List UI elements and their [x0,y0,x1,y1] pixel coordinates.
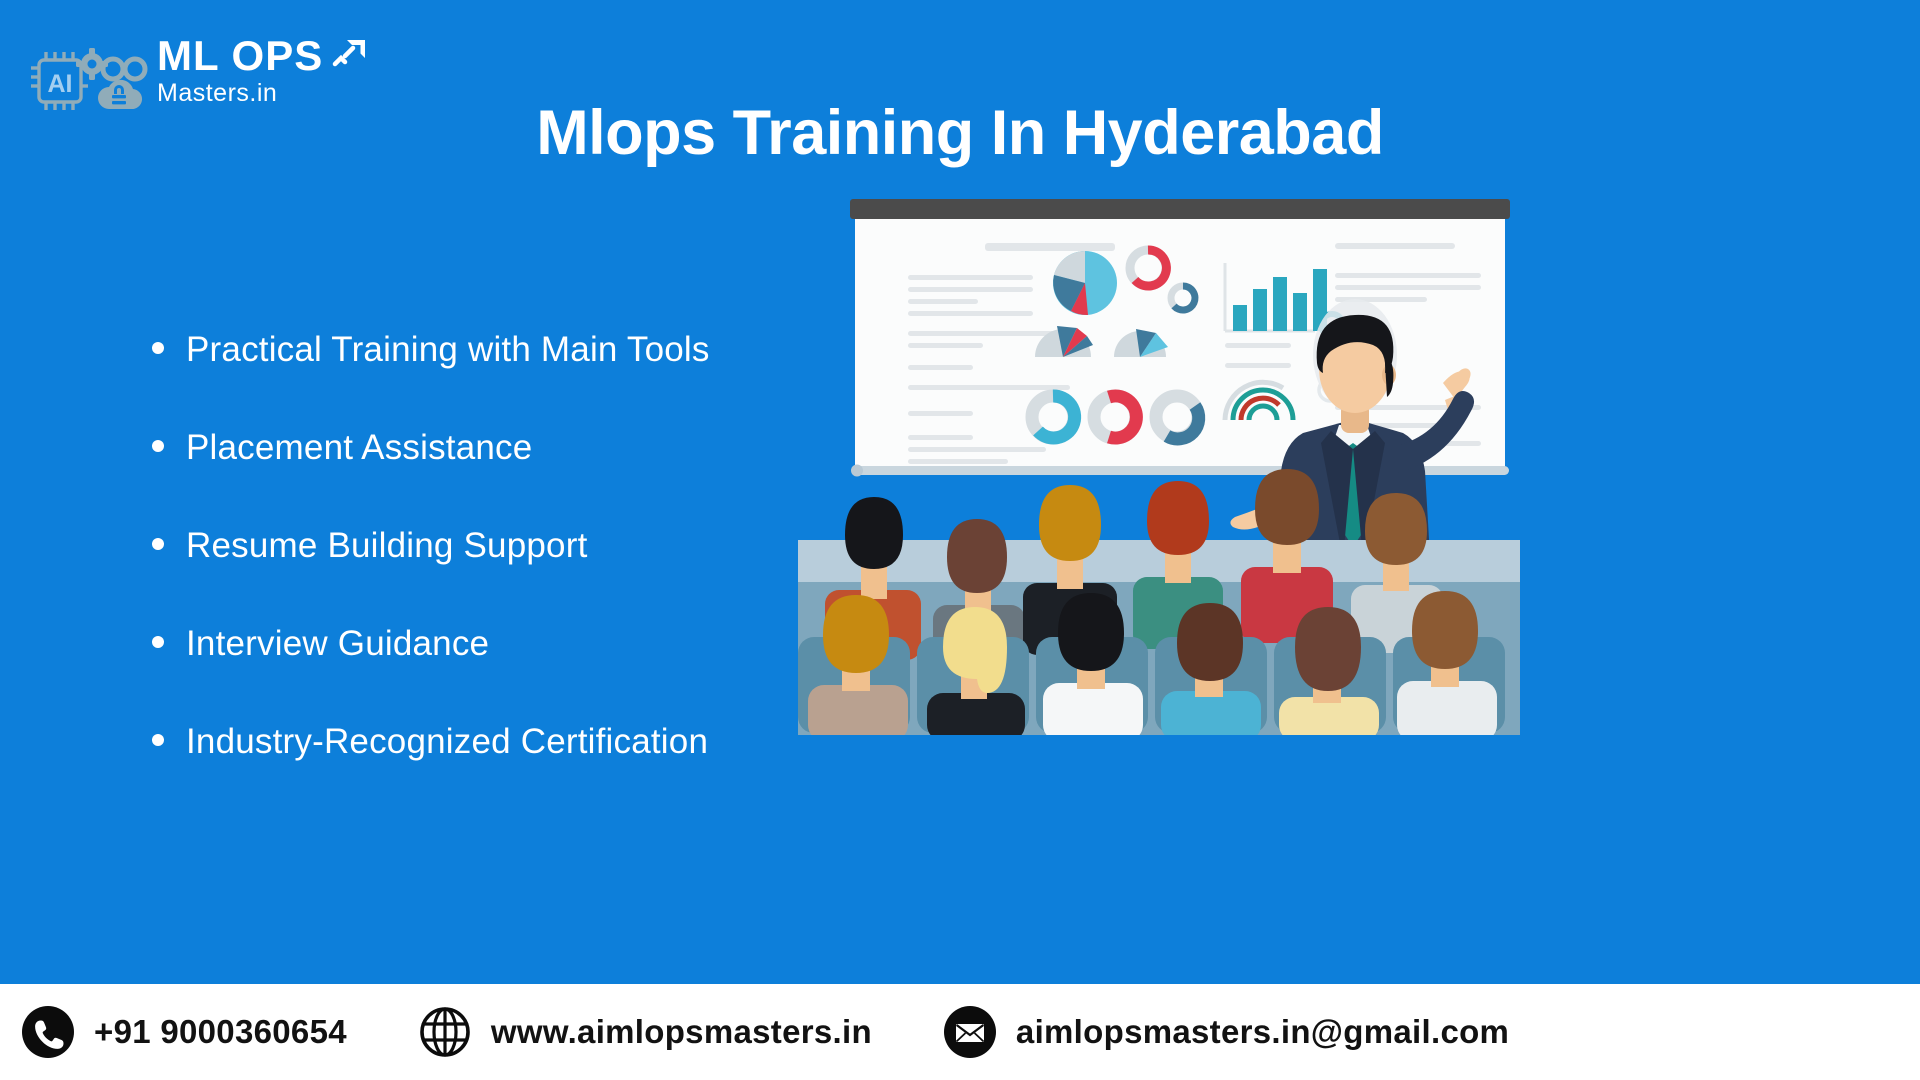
training-illustration-svg [795,185,1520,735]
list-item-label: Resume Building Support [186,526,588,566]
brand-logo[interactable]: AI [24,30,354,122]
list-item: Industry-Recognized Certification [152,722,852,820]
contact-footer: +91 9000360654 www.aimlopsmasters.in [0,984,1920,1080]
list-item: Placement Assistance [152,428,852,526]
list-item: Resume Building Support [152,526,852,624]
pie-chart [1053,251,1117,315]
logo-mark-svg: AI [24,38,154,116]
contact-website[interactable]: www.aimlopsmasters.in [419,984,872,1080]
phone-number: +91 9000360654 [94,1013,347,1051]
envelope-icon [944,1006,996,1058]
bullet-dot-icon [152,440,164,452]
logo-wordmark: ML OPS Masters.in [157,34,357,108]
logo-line-1: ML OPS [157,34,357,78]
bullet-dot-icon [152,538,164,550]
gear-center [88,60,97,69]
cloud-lock-icon [98,80,142,109]
page-title: Mlops Training In Hyderabad [360,94,1560,172]
growth-arrow-icon [331,36,371,76]
logo-line-2: Masters.in [157,78,357,108]
list-item: Interview Guidance [152,624,852,722]
training-illustration [795,185,1520,735]
contact-phone[interactable]: +91 9000360654 [22,984,347,1080]
bullet-dot-icon [152,342,164,354]
infinity-icon [103,59,145,79]
contact-email[interactable]: aimlopsmasters.in@gmail.com [944,984,1509,1080]
list-item-label: Interview Guidance [186,624,489,664]
phone-icon [22,1006,74,1058]
logo-ai-text: AI [48,70,73,98]
projector-screen [850,199,1510,477]
list-item-label: Industry-Recognized Certification [186,722,708,762]
globe-icon [419,1006,471,1058]
list-item-label: Practical Training with Main Tools [186,330,710,370]
list-item: Practical Training with Main Tools [152,330,852,428]
email-address: aimlopsmasters.in@gmail.com [1016,1013,1509,1051]
feature-list: Practical Training with Main Tools Place… [152,330,852,820]
logo-mark: AI [24,38,154,116]
bullet-dot-icon [152,636,164,648]
bullet-dot-icon [152,734,164,746]
website-url: www.aimlopsmasters.in [491,1013,872,1051]
poster-canvas: AI [0,0,1920,1080]
list-item-label: Placement Assistance [186,428,532,468]
